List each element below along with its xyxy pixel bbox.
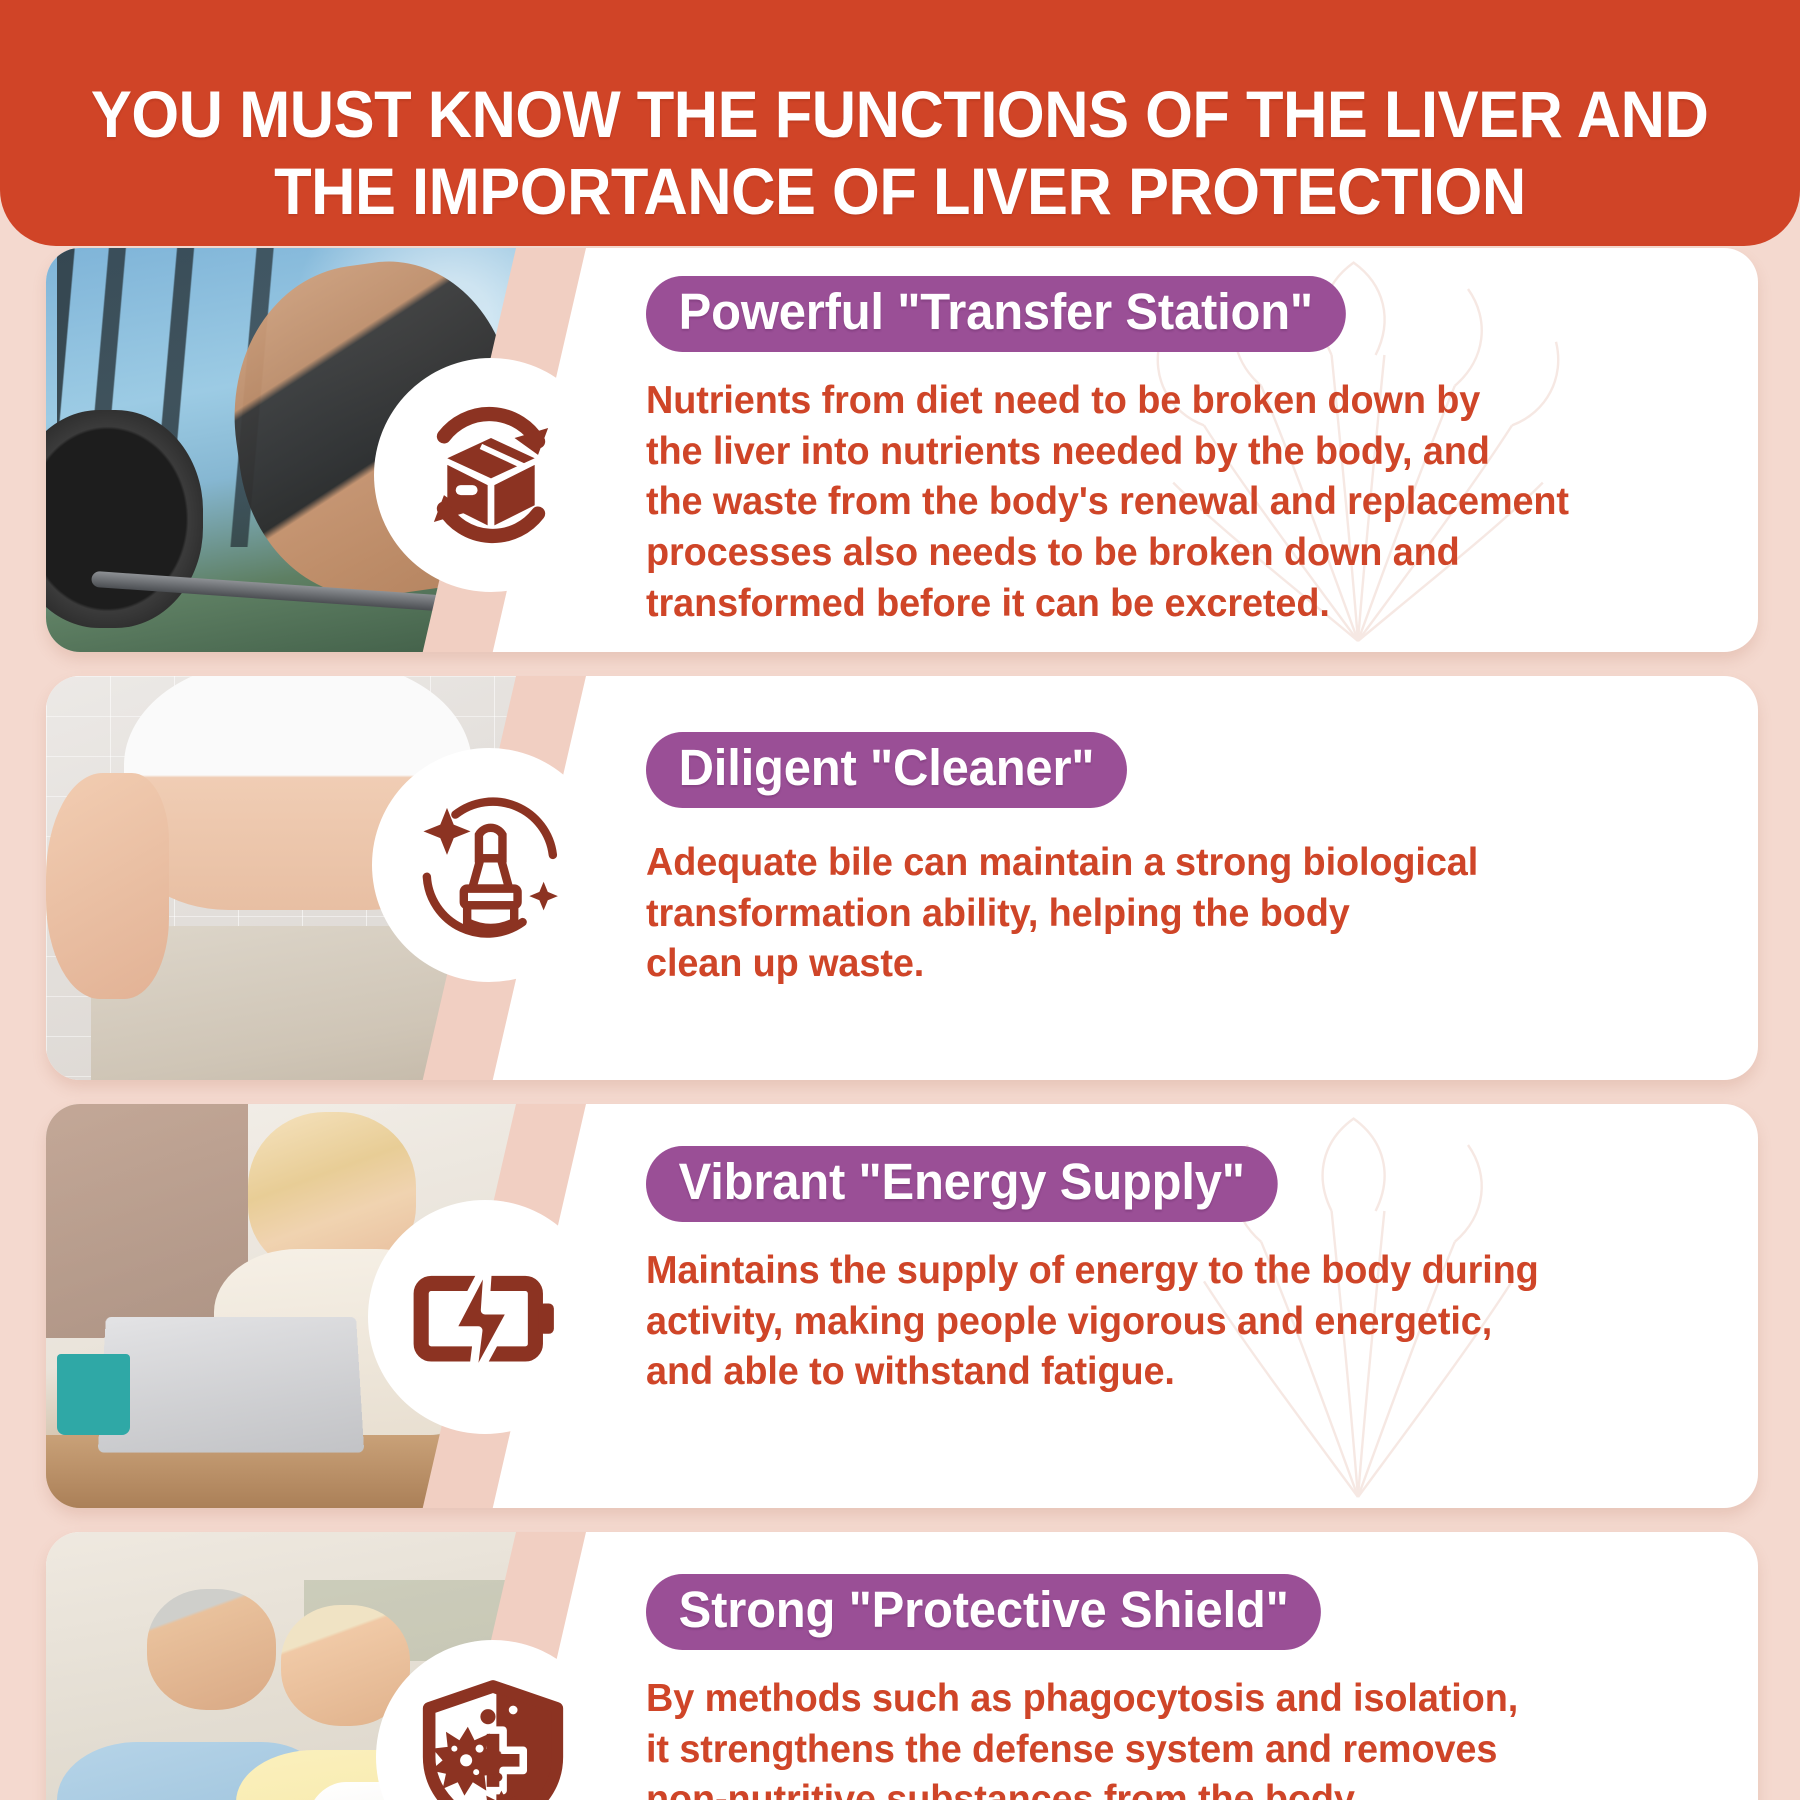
card-badge-title: Powerful "Transfer Station" [646, 276, 1346, 352]
card-body-text: Maintains the supply of energy to the bo… [646, 1246, 1692, 1398]
header-title-line-2: THE IMPORTANCE OF LIVER PROTECTION [274, 153, 1526, 230]
card-badge-title: Strong "Protective Shield" [646, 1574, 1321, 1650]
card-body-text: By methods such as phagocytosis and isol… [646, 1674, 1692, 1800]
package-recycle-icon [374, 358, 608, 592]
card-body-text: Nutrients from diet need to be broken do… [646, 376, 1692, 629]
battery-charging-icon [368, 1200, 602, 1434]
card-content: Vibrant "Energy Supply" Maintains the su… [646, 1104, 1724, 1508]
card-protective-shield[interactable]: Strong "Protective Shield" By methods su… [46, 1532, 1758, 1800]
card-content: Strong "Protective Shield" By methods su… [646, 1532, 1724, 1800]
card-cleaner[interactable]: Diligent "Cleaner" Adequate bile can mai… [46, 676, 1758, 1080]
card-content: Diligent "Cleaner" Adequate bile can mai… [646, 676, 1724, 1080]
card-transfer-station[interactable]: Powerful "Transfer Station" Nutrients fr… [46, 248, 1758, 652]
card-badge-title: Diligent "Cleaner" [646, 732, 1127, 808]
header-banner: YOU MUST KNOW THE FUNCTIONS OF THE LIVER… [0, 0, 1800, 246]
card-body-text: Adequate bile can maintain a strong biol… [646, 838, 1692, 990]
card-energy-supply[interactable]: Vibrant "Energy Supply" Maintains the su… [46, 1104, 1758, 1508]
header-title-line-1: YOU MUST KNOW THE FUNCTIONS OF THE LIVER… [91, 76, 1708, 153]
card-content: Powerful "Transfer Station" Nutrients fr… [646, 248, 1724, 652]
paintbrush-sparkle-icon [372, 748, 606, 982]
card-badge-title: Vibrant "Energy Supply" [646, 1146, 1277, 1222]
card-list: Powerful "Transfer Station" Nutrients fr… [0, 248, 1800, 1800]
